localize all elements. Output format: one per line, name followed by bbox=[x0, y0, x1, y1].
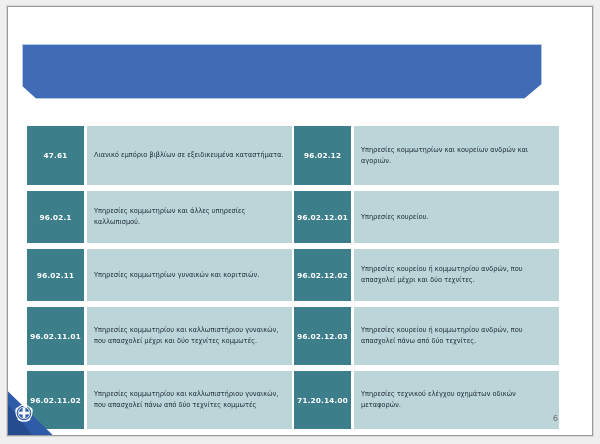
activity-code-cell: 71.20.14.00 bbox=[294, 371, 351, 429]
table-row: 96.02.11.01Υπηρεσίες κομμωτηρίου και καλ… bbox=[27, 307, 292, 365]
activity-description-text: Λιανικό εμπόριο βιβλίων σε εξειδικευμένα… bbox=[94, 150, 284, 161]
activity-code-cell: 96.02.12.03 bbox=[294, 307, 351, 365]
activity-code-cell: 47.61 bbox=[27, 126, 84, 185]
table-row: 96.02.12.01Υπηρεσίες κουρείου. bbox=[294, 191, 559, 243]
activity-description-cell: Υπηρεσίες κουρείου. bbox=[354, 191, 559, 243]
table-row: 71.20.14.00Υπηρεσίες τεχνικού ελέγχου οχ… bbox=[294, 371, 559, 429]
activity-description-text: Υπηρεσίες κουρείου ή κομμωτηρίου ανδρών,… bbox=[361, 264, 552, 285]
activity-description-cell: Λιανικό εμπόριο βιβλίων σε εξειδικευμένα… bbox=[87, 126, 292, 185]
activity-code-cell: 96.02.11.01 bbox=[27, 307, 84, 365]
activity-description-cell: Υπηρεσίες κουρείου ή κομμωτηρίου ανδρών,… bbox=[354, 307, 559, 365]
activity-description-text: Υπηρεσίες κομμωτηρίων και κουρείων ανδρώ… bbox=[361, 145, 552, 166]
activity-description-text: Υπηρεσίες κουρείου. bbox=[361, 212, 429, 223]
activity-description-text: Υπηρεσίες τεχνικού ελέγχου οχημάτων οδικ… bbox=[361, 389, 552, 410]
table-row: 96.02.11.02Υπηρεσίες κομμωτηρίου και καλ… bbox=[27, 371, 292, 429]
table-row: 47.61Λιανικό εμπόριο βιβλίων σε εξειδικε… bbox=[27, 126, 292, 185]
activity-description-text: Υπηρεσίες κομμωτηρίου και καλλωπιστήριου… bbox=[94, 325, 285, 346]
slide-page-number: 6 bbox=[553, 414, 558, 423]
activity-code-cell: 96.02.12.02 bbox=[294, 249, 351, 301]
activity-description-cell: Υπηρεσίες τεχνικού ελέγχου οχημάτων οδικ… bbox=[354, 371, 559, 429]
code-table: 47.61Λιανικό εμπόριο βιβλίων σε εξειδικε… bbox=[27, 119, 572, 409]
activity-code-cell: 96.02.11 bbox=[27, 249, 84, 301]
table-row: 96.02.12.03Υπηρεσίες κουρείου ή κομμωτηρ… bbox=[294, 307, 559, 365]
activity-description-cell: Υπηρεσίες κομμωτηρίων και κουρείων ανδρώ… bbox=[354, 126, 559, 185]
slide-title-banner bbox=[22, 44, 542, 99]
activity-description-text: Υπηρεσίες κουρείου ή κομμωτηρίου ανδρών,… bbox=[361, 325, 552, 346]
table-row: 96.02.11Υπηρεσίες κομμωτηρίων γυναικών κ… bbox=[27, 249, 292, 301]
slide-title-text: 2ο Στάδιο –13 και 14 Δεκεμβρίου bbox=[26, 24, 255, 40]
activity-description-text: Υπηρεσίες κομμωτηρίων γυναικών και κοριτ… bbox=[94, 270, 259, 281]
presentation-window: 2ο Στάδιο –13 και 14 Δεκεμβρίου 47.61Λια… bbox=[0, 0, 600, 444]
activity-description-cell: Υπηρεσίες κομμωτηρίου και καλλωπιστήριου… bbox=[87, 371, 292, 429]
table-column-left: 47.61Λιανικό εμπόριο βιβλίων σε εξειδικε… bbox=[27, 119, 292, 409]
table-row: 96.02.12.02Υπηρεσίες κουρείου ή κομμωτηρ… bbox=[294, 249, 559, 301]
activity-code-cell: 96.02.12.01 bbox=[294, 191, 351, 243]
slide-canvas: 2ο Στάδιο –13 και 14 Δεκεμβρίου 47.61Λια… bbox=[7, 6, 593, 436]
activity-description-cell: Υπηρεσίες κομμωτηρίων και άλλες υπηρεσίε… bbox=[87, 191, 292, 243]
activity-description-cell: Υπηρεσίες κουρείου ή κομμωτηρίου ανδρών,… bbox=[354, 249, 559, 301]
activity-description-cell: Υπηρεσίες κομμωτηρίων γυναικών και κοριτ… bbox=[87, 249, 292, 301]
activity-description-cell: Υπηρεσίες κομμωτηρίου και καλλωπιστήριου… bbox=[87, 307, 292, 365]
table-row: 96.02.12Υπηρεσίες κομμωτηρίων και κουρεί… bbox=[294, 126, 559, 185]
activity-code-cell: 96.02.12 bbox=[294, 126, 351, 185]
table-column-right: 96.02.12Υπηρεσίες κομμωτηρίων και κουρεί… bbox=[294, 119, 559, 409]
activity-description-text: Υπηρεσίες κομμωτηρίου και καλλωπιστήριου… bbox=[94, 389, 285, 410]
activity-description-text: Υπηρεσίες κομμωτηρίων και άλλες υπηρεσίε… bbox=[94, 206, 285, 227]
activity-code-cell: 96.02.11.02 bbox=[27, 371, 84, 429]
table-row: 96.02.1Υπηρεσίες κομμωτηρίων και άλλες υ… bbox=[27, 191, 292, 243]
activity-code-cell: 96.02.1 bbox=[27, 191, 84, 243]
